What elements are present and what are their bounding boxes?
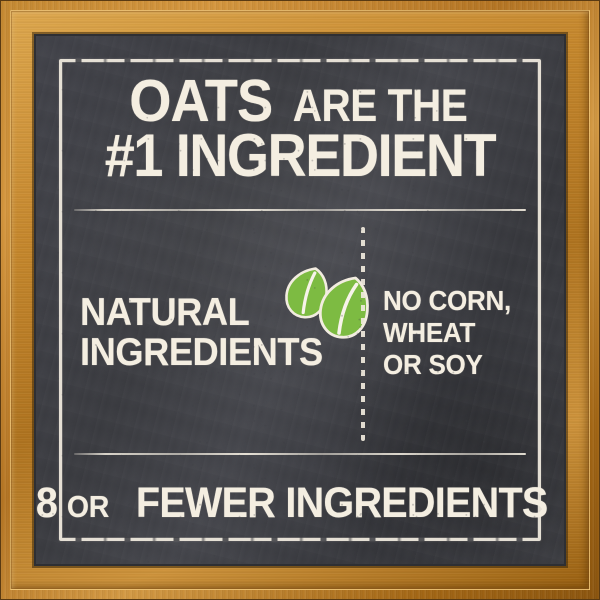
headline-line-1: OATSARE THE xyxy=(66,76,534,128)
middle-row: NATURAL INGREDIENTS xyxy=(66,211,534,453)
natural-ingredients-line-2: INGREDIENTS xyxy=(80,333,323,373)
chalkboard-surface: OATSARE THE #1 INGREDIENT NATURAL INGRED… xyxy=(36,36,564,564)
fewer-ingredients-text: FEWER INGREDIENTS xyxy=(136,479,548,528)
vertical-dashed-divider xyxy=(361,227,365,441)
sign-content: OATSARE THE #1 INGREDIENT NATURAL INGRED… xyxy=(66,62,534,538)
headline-word-oats: OATS xyxy=(129,76,272,128)
no-corn-wheat-soy-block: NO CORN, WHEAT OR SOY xyxy=(381,285,521,380)
natural-ingredients-block: NATURAL INGREDIENTS xyxy=(80,293,357,373)
chalkboard-sign: OATSARE THE #1 INGREDIENT NATURAL INGRED… xyxy=(0,0,600,600)
headline-word-are-the: ARE THE xyxy=(292,86,467,126)
fewer-ingredients-connector: OR xyxy=(67,489,109,525)
headline-line-2: #1 INGREDIENT xyxy=(66,130,534,183)
headline-block: OATSARE THE #1 INGREDIENT xyxy=(66,62,534,183)
divider-rule-bottom xyxy=(74,453,526,455)
no-corn-line: NO CORN, xyxy=(383,285,511,317)
fewer-ingredients-number: 8 xyxy=(36,479,57,528)
wheat-line: WHEAT xyxy=(383,317,511,349)
headline-word-number-one-ingredient: #1 INGREDIENT xyxy=(105,130,496,183)
or-soy-line: OR SOY xyxy=(383,349,511,381)
natural-ingredients-line-1: NATURAL xyxy=(80,293,323,333)
fewer-ingredients-block: 8ORFEWER INGREDIENTS xyxy=(66,455,534,538)
